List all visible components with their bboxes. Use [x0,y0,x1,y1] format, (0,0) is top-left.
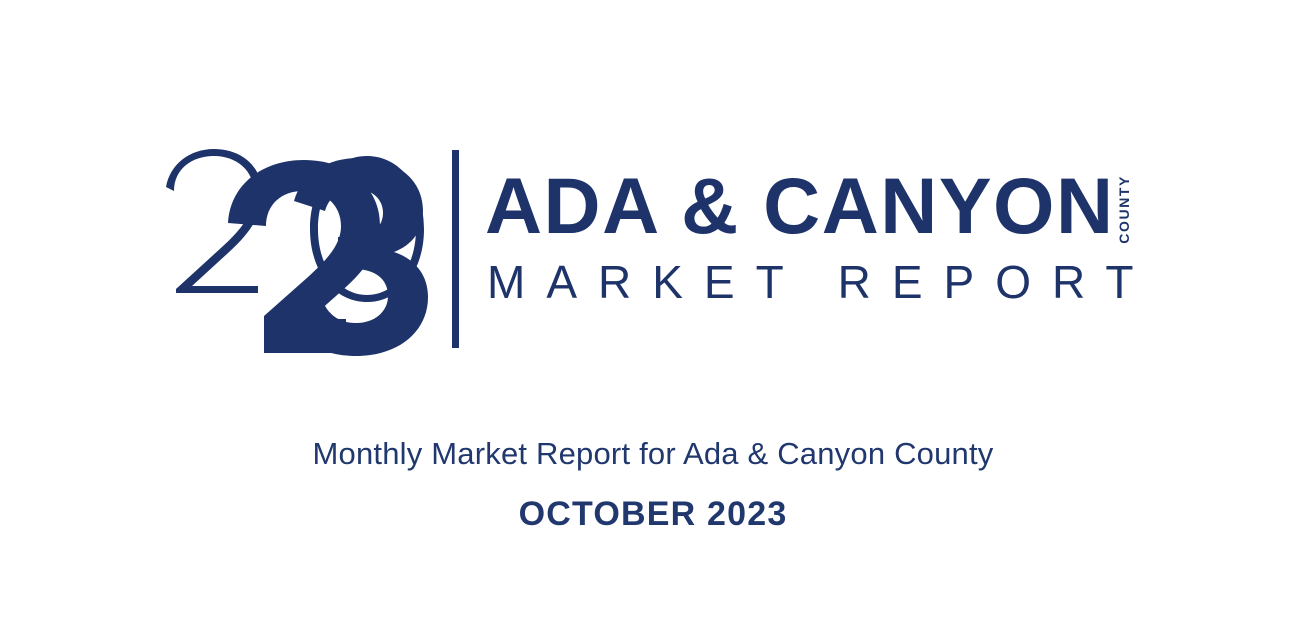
brand-logo-lockup: ADA & CANYON COUNTY MARKET REPORT [160,145,1150,355]
year-mark-2023 [160,145,432,353]
wordmark-top-row: ADA & CANYON COUNTY [485,163,1145,251]
brand-wordmark: ADA & CANYON COUNTY MARKET REPORT [485,163,1145,338]
report-subtitle: Monthly Market Report for Ada & Canyon C… [0,432,1306,476]
cover-caption-block: Monthly Market Report for Ada & Canyon C… [0,432,1306,535]
report-date: OCTOBER 2023 [0,493,1306,535]
report-cover-page: ADA & CANYON COUNTY MARKET REPORT Monthl… [0,0,1306,626]
wordmark-sub-text: MARKET REPORT [487,255,1154,309]
wordmark-main-text: ADA & CANYON [485,163,1115,249]
wordmark-county-tag: COUNTY [1116,175,1132,244]
logo-divider-rule [452,150,459,348]
